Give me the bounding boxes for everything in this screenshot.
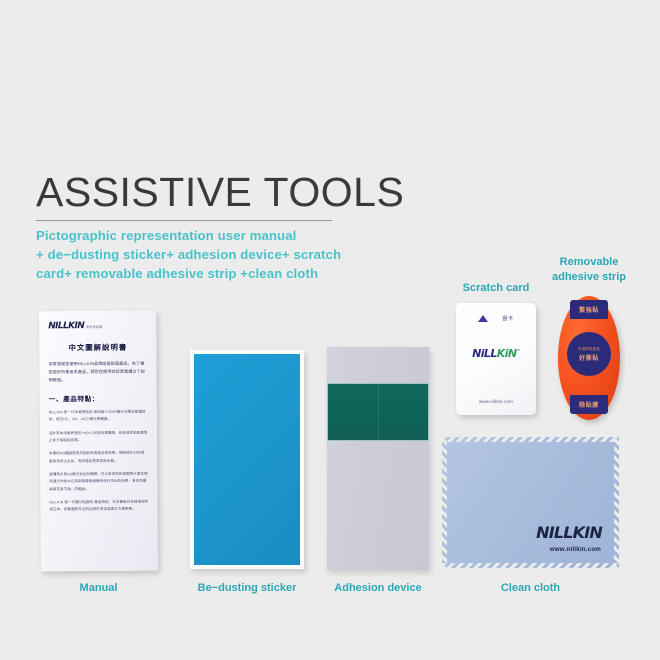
logo-part-b: KiN <box>497 347 517 360</box>
adhesion-device-green-band <box>327 383 429 441</box>
triangle-up-icon <box>478 315 488 322</box>
trademark-symbol: ™ <box>516 348 519 353</box>
caption-adhesive-strip-line2: adhesive strip <box>548 270 630 285</box>
cloth-serrated-edge-bottom <box>442 563 619 568</box>
cloth-serrated-edge-left <box>442 437 447 568</box>
manual-logo-subtext: 耐尔金品牌 <box>86 324 102 329</box>
page-title: ASSISTIVE TOOLS <box>36 172 456 213</box>
manual-heading: 中文圖解說明書 <box>48 342 147 354</box>
caption-manual: Manual <box>40 582 157 594</box>
adhesion-device-seam <box>378 384 379 440</box>
product-adhesion-device <box>327 347 429 570</box>
title-divider <box>36 220 332 221</box>
caption-scratch-card: Scratch card <box>456 282 536 294</box>
header: ASSISTIVE TOOLS Pictographic representat… <box>36 172 456 284</box>
cloth-serrated-edge-right <box>614 437 619 568</box>
clean-cloth-url: www.nillkin.com <box>550 546 601 553</box>
adhesive-strip-center-main-text: 好撕貼 <box>579 353 599 362</box>
adhesive-strip-center-label: 不殘膠除塵貼 好撕貼 <box>567 332 611 376</box>
caption-adhesive-strip: Removable adhesive strip <box>548 255 630 285</box>
caption-adhesion-device: Adhesion device <box>322 582 434 594</box>
caption-adhesive-strip-line1: Removable <box>548 255 630 270</box>
manual-paragraph: 超薄蒸水用AS膜光划且耐鍍膜，可以有效防防遮面等水面在使用通方时耐水在透高屏幕表… <box>49 471 148 494</box>
dedusting-sticker-surface <box>194 354 300 565</box>
subtitle: Pictographic representation user manual … <box>36 227 456 284</box>
scratch-card-cn-label: 刮卡 <box>502 315 513 322</box>
caption-dedusting-sticker: Be−dusting sticker <box>190 582 304 594</box>
manual-paragraph: NILLKIN 第一代本基質貼知 采用第三代AR鍍分光學全面鍍技術，使日HC、A… <box>49 409 148 424</box>
manual-paragraph: NILLKIN 第一代鍍分貼膜知 產品特色：日本最新日本玻璃材料原正本，初數鍍照… <box>49 499 148 514</box>
product-clean-cloth: NILLKIN www.nillkin.com <box>442 437 619 568</box>
manual-intro: 非常感謝您使用NILLKIN品牌高級貼膜產品，為了讓您更好的使用本產品，請您在使… <box>48 360 147 385</box>
scratch-card-top-row: 刮卡 <box>456 315 536 322</box>
manual-paragraph: 本產的AR鍍膜更具抗指紋和清理溶液效果，使制造外18的质量有效防止反射，有效增加… <box>49 450 148 465</box>
manual-section-heading: 一、產品特點： <box>49 393 148 404</box>
adhesive-strip-center-small-text: 不殘膠除塵貼 <box>578 346 600 351</box>
subtitle-line-2: + de−dusting sticker+ adhesion device+ s… <box>36 246 456 265</box>
manual-logo-row: NILLKIN 耐尔金品牌 <box>48 321 147 332</box>
cloth-serrated-edge-top <box>442 437 619 442</box>
subtitle-line-1: Pictographic representation user manual <box>36 227 456 246</box>
logo-part-a: NiLL <box>472 347 497 360</box>
product-removable-adhesive-strip: 繁強貼 不殘膠除塵貼 好撕貼 除貼膜 <box>558 296 620 420</box>
caption-clean-cloth: Clean cloth <box>442 582 619 594</box>
product-scratch-card: 刮卡 NiLLKiN™ www.nillkin.com <box>456 303 536 415</box>
nillkin-logo: NILLKIN <box>48 321 84 331</box>
product-manual: NILLKIN 耐尔金品牌 中文圖解說明書 非常感謝您使用NILLKIN品牌高級… <box>39 311 158 572</box>
manual-paragraph: 高外置本用像界面防+HD+C光道效果鍍膜，有效消黑高屏幕而止多方暗暗蛇弥重。 <box>49 429 148 444</box>
subtitle-line-3: card+ removable adhesive strip +clean cl… <box>36 265 456 284</box>
adhesive-strip-bottom-label: 除貼膜 <box>570 395 608 414</box>
nillkin-logo: NiLLKiN™ <box>456 347 536 360</box>
adhesive-strip-top-label: 繁強貼 <box>570 300 608 319</box>
nillkin-logo: NILLKIN <box>536 523 602 542</box>
product-dedusting-sticker <box>190 350 304 569</box>
scratch-card-url: www.nillkin.com <box>456 399 536 404</box>
